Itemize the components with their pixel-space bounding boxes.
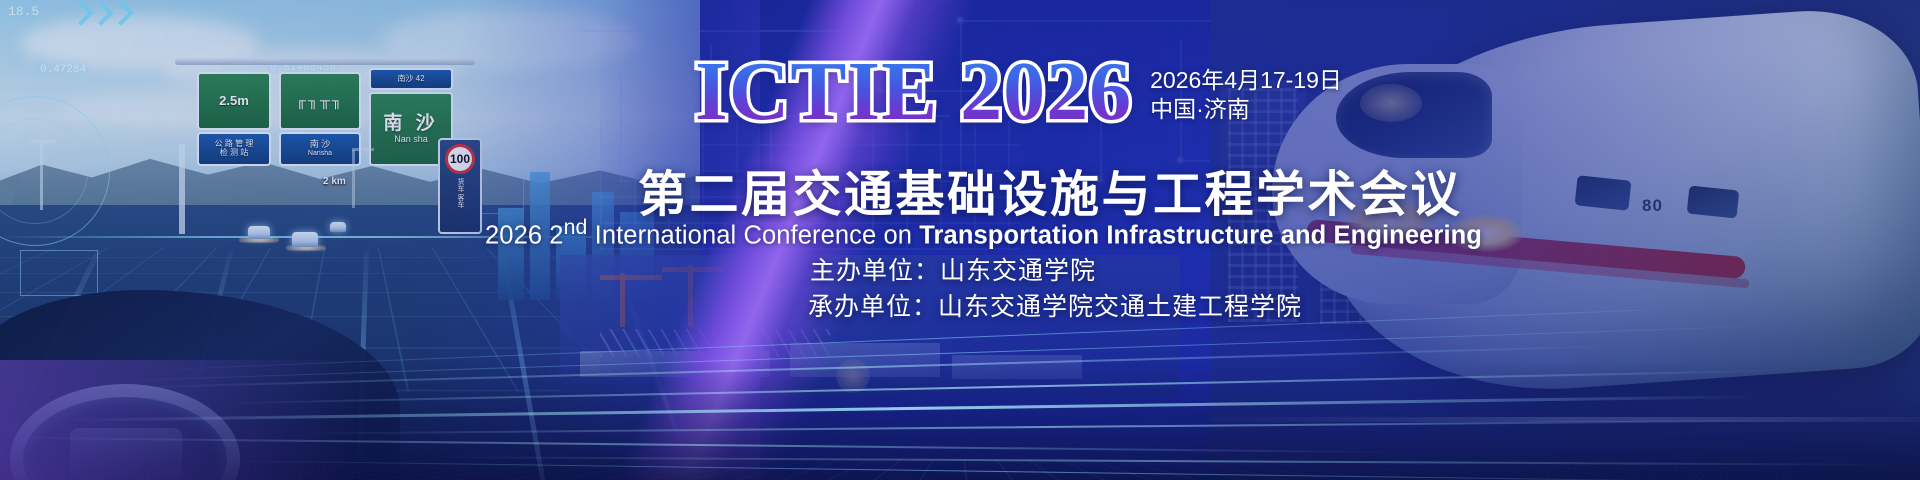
text-content-block: ICTIE 2026 ICTIE 2026 2026年4月17-19日 中国·济… bbox=[600, 0, 1360, 480]
title-row: ICTIE 2026 ICTIE 2026 2026年4月17-19日 中国·济… bbox=[695, 52, 1342, 132]
acronym-title: ICTIE 2026 bbox=[695, 52, 1132, 132]
english-prefix: 2026 2 bbox=[485, 222, 564, 250]
acronym-title-wrap: ICTIE 2026 ICTIE 2026 bbox=[695, 52, 1132, 132]
english-conference-title: 2026 2nd International Conference on Tra… bbox=[485, 215, 1385, 251]
conference-banner: 18.5 0.47284 0.81468456 2.5m 公 路 管 理 检 测… bbox=[0, 0, 1920, 480]
english-ordinal: nd bbox=[564, 215, 588, 239]
date-location-block: 2026年4月17-19日 中国·济南 bbox=[1150, 66, 1342, 125]
english-bold-part: Transportation Infrastructure and Engine… bbox=[919, 222, 1482, 250]
organizer-block: 主办单位：山东交通学院 承办单位：山东交通学院交通土建工程学院 bbox=[810, 253, 1302, 326]
organizer-line: 主办单位：山东交通学院 bbox=[810, 253, 1302, 289]
conference-date: 2026年4月17-19日 bbox=[1150, 66, 1342, 95]
english-middle: International Conference on bbox=[587, 222, 919, 250]
left-purple-tint bbox=[0, 360, 360, 480]
cohost-line: 承办单位：山东交通学院交通土建工程学院 bbox=[808, 289, 1302, 325]
conference-location: 中国·济南 bbox=[1150, 95, 1342, 124]
